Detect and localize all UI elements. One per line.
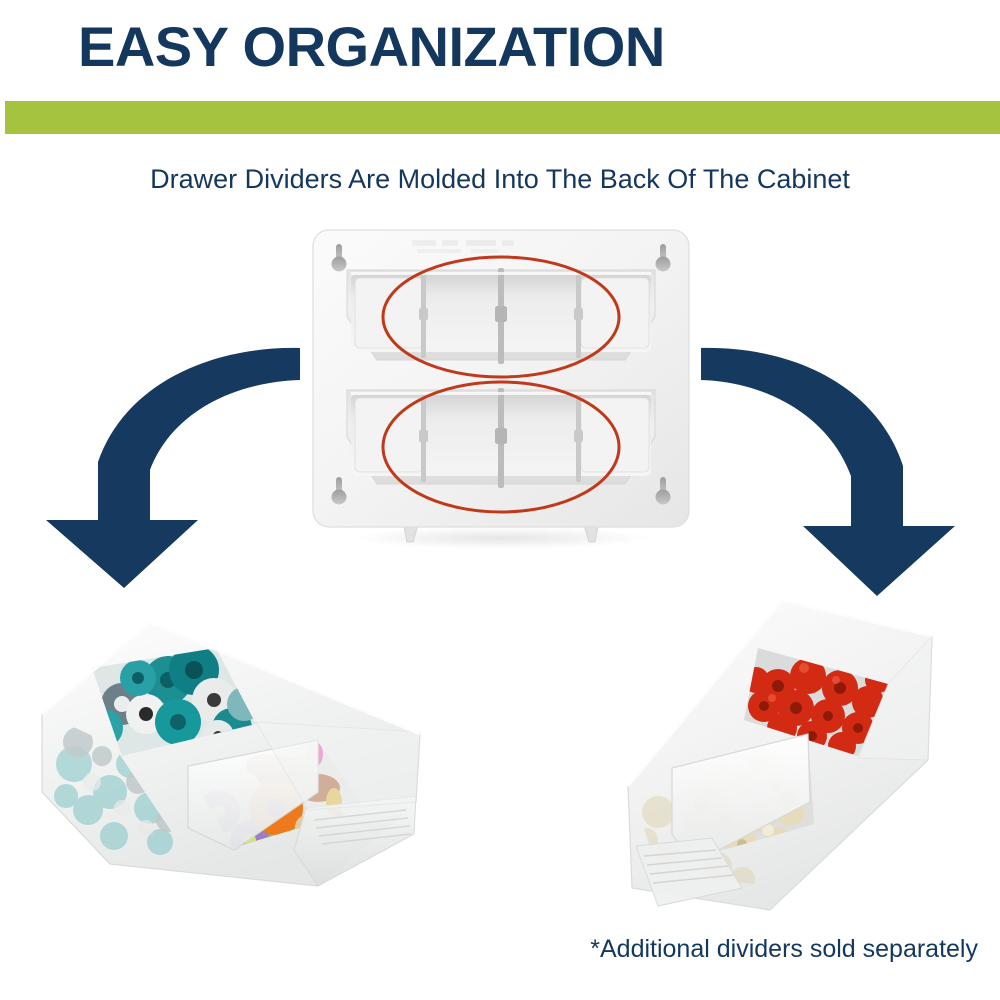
- arrow-left-shape: [46, 348, 300, 588]
- left-drawer: [18, 596, 458, 902]
- cabinet-product-photo: [295, 222, 707, 552]
- cabinet-shadow: [351, 527, 651, 549]
- arrow-right-svg: [665, 330, 975, 598]
- right-drawer: [592, 588, 1000, 938]
- infographic-page: EASY ORGANIZATION Drawer Dividers Are Mo…: [0, 0, 1000, 1000]
- cabinet-illustration: [295, 222, 707, 552]
- upper-drawer-bay: [347, 268, 655, 364]
- footnote-text: *Additional dividers sold separately: [0, 935, 978, 964]
- right-drawer-illustration: [592, 588, 1000, 938]
- arrow-right-shape: [701, 348, 955, 596]
- curved-arrow-to-right-drawer: [665, 330, 975, 598]
- arrow-left-svg: [28, 330, 338, 590]
- accent-bar: [5, 101, 1000, 134]
- page-title: EASY ORGANIZATION: [78, 18, 938, 77]
- curved-arrow-to-left-drawer: [28, 330, 338, 590]
- left-drawer-illustration: [18, 596, 458, 902]
- subheading: Drawer Dividers Are Molded Into The Back…: [0, 164, 1000, 195]
